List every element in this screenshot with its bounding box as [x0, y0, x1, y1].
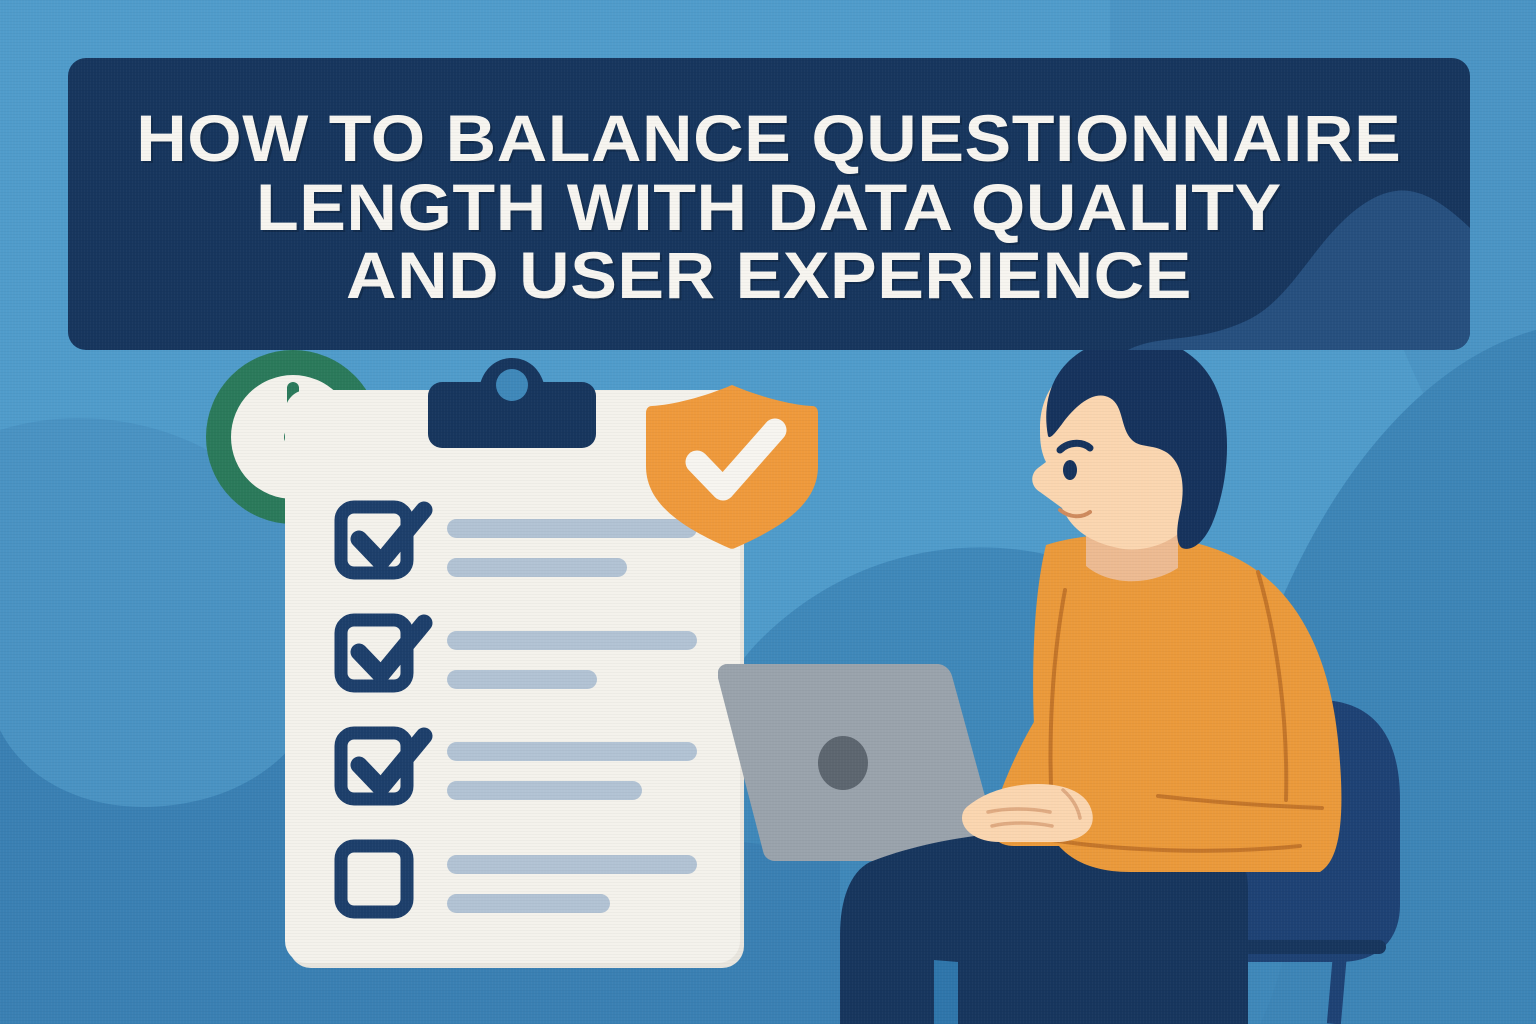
checklist-line: [447, 781, 642, 800]
checklist-line: [447, 742, 697, 761]
title-line-1: How to Balance Questionnaire: [136, 106, 1401, 171]
laptop-logo: [818, 736, 868, 790]
checklist-line: [447, 631, 697, 650]
clipboard-clip: [428, 358, 596, 448]
checklist-line: [447, 558, 627, 577]
checklist-line: [447, 670, 597, 689]
checklist-line: [447, 894, 610, 913]
title-line-2: Length With Data Quality: [256, 175, 1282, 240]
eye: [1063, 460, 1077, 480]
checklist-line: [447, 519, 697, 538]
title-line-3: and User Experience: [346, 243, 1192, 308]
laptop-icon: [718, 664, 1000, 861]
page-title: How to Balance Questionnaire Length With…: [68, 58, 1470, 350]
chair-leg-right: [1327, 952, 1347, 1024]
trouser-gap: [934, 960, 958, 1024]
illustration-banner: How to Balance Questionnaire Length With…: [0, 0, 1536, 1024]
checklist-line: [447, 855, 697, 874]
